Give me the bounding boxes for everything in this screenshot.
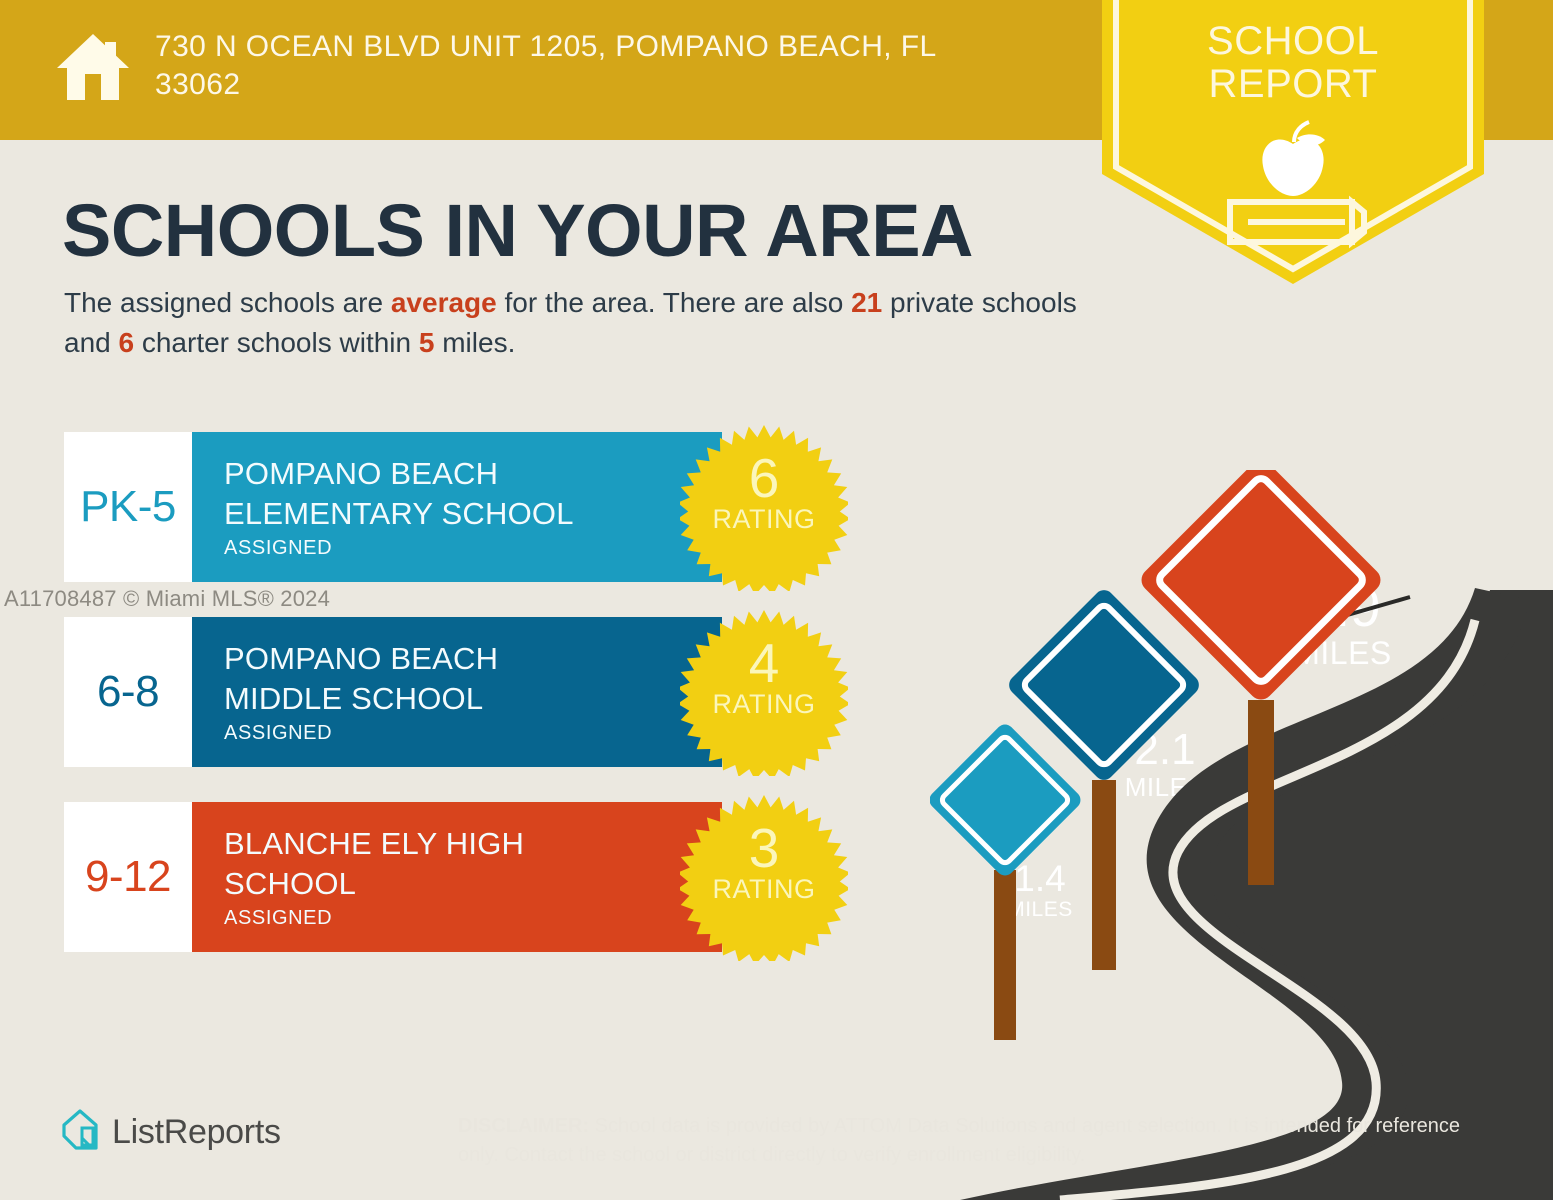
mls-watermark: A11708487 © Miami MLS® 2024 [4, 586, 330, 612]
rating-value: 6 [680, 451, 848, 506]
summary-highlight-radius: 5 [419, 327, 435, 358]
summary-part-2: for the area. There are also [497, 287, 851, 318]
rating-label: 3 RATING [680, 821, 848, 905]
summary-text: The assigned schools are average for the… [64, 283, 1094, 363]
school-row[interactable]: 6-8 POMPANO BEACH MIDDLE SCHOOL ASSIGNED… [64, 617, 854, 767]
summary-highlight-private-count: 21 [851, 287, 882, 318]
grade-range: 6-8 [97, 667, 159, 717]
disclaimer-label: DISCLAIMER: [458, 1115, 589, 1137]
grade-range: 9-12 [85, 852, 171, 902]
school-status: ASSIGNED [224, 907, 722, 930]
summary-highlight-average: average [391, 287, 497, 318]
rating-starburst: 3 RATING [680, 793, 848, 961]
rating-label: 6 RATING [680, 451, 848, 535]
summary-part-1: The assigned schools are [64, 287, 391, 318]
road-illustration [930, 470, 1553, 1200]
listreports-house-tag-icon [60, 1108, 100, 1157]
listreports-logo-text: ListReports [112, 1113, 281, 1152]
school-status: ASSIGNED [224, 537, 722, 560]
property-address: 730 N OCEAN BLVD UNIT 1205, POMPANO BEAC… [155, 28, 937, 105]
rating-word: RATING [680, 874, 848, 905]
school-report-badge: SCHOOL REPORT [1102, 0, 1484, 294]
listreports-logo[interactable]: ListReports [60, 1108, 281, 1157]
school-list: PK-5 POMPANO BEACH ELEMENTARY SCHOOL ASS… [64, 432, 854, 987]
badge-title: SCHOOL REPORT [1102, 20, 1484, 106]
grade-box: 6-8 [64, 617, 192, 767]
school-row[interactable]: 9-12 BLANCHE ELY HIGH SCHOOL ASSIGNED 3 … [64, 802, 854, 952]
home-icon [55, 30, 131, 107]
school-name: POMPANO BEACH ELEMENTARY SCHOOL [224, 454, 722, 533]
rating-value: 4 [680, 636, 848, 691]
rating-word: RATING [680, 689, 848, 720]
grade-box: 9-12 [64, 802, 192, 952]
summary-part-4: charter schools within [134, 327, 419, 358]
disclaimer: DISCLAIMER: School data is provided by A… [458, 1112, 1488, 1170]
summary-highlight-charter-count: 6 [119, 327, 135, 358]
rating-label: 4 RATING [680, 636, 848, 720]
school-row[interactable]: PK-5 POMPANO BEACH ELEMENTARY SCHOOL ASS… [64, 432, 854, 582]
school-bar: BLANCHE ELY HIGH SCHOOL ASSIGNED [192, 802, 722, 952]
rating-word: RATING [680, 504, 848, 535]
school-bar: POMPANO BEACH MIDDLE SCHOOL ASSIGNED [192, 617, 722, 767]
school-name: POMPANO BEACH MIDDLE SCHOOL [224, 639, 722, 718]
grade-range: PK-5 [80, 482, 176, 532]
school-status: ASSIGNED [224, 722, 722, 745]
school-name: BLANCHE ELY HIGH SCHOOL [224, 824, 722, 903]
grade-box: PK-5 [64, 432, 192, 582]
rating-starburst: 4 RATING [680, 608, 848, 776]
page-title: SCHOOLS IN YOUR AREA [62, 188, 973, 273]
header-content: 730 N OCEAN BLVD UNIT 1205, POMPANO BEAC… [55, 28, 1075, 107]
disclaimer-text: School data is provided by ATTOM Data So… [458, 1115, 1460, 1166]
school-report-infographic: 1.4 MILES 2.1 MILES 2.9 MILES 730 N OCEA… [0, 0, 1553, 1200]
summary-part-5: miles. [434, 327, 515, 358]
rating-value: 3 [680, 821, 848, 876]
school-bar: POMPANO BEACH ELEMENTARY SCHOOL ASSIGNED [192, 432, 722, 582]
rating-starburst: 6 RATING [680, 423, 848, 591]
